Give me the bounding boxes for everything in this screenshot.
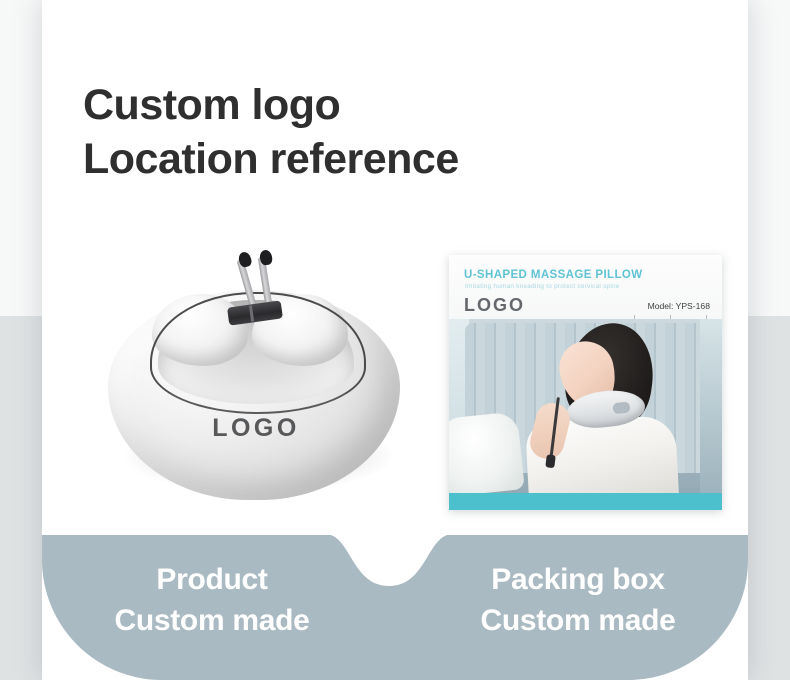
packing-box-image: U-SHAPED MASSAGE PILLOW Imitating human … [449,255,722,510]
caption-packing-box: Packing box Custom made [408,559,748,641]
photo-bed-pillow [449,411,525,493]
lifestyle-photo [449,319,722,493]
photo-wall-right [700,319,722,493]
packing-box-subtitle: Imitating human kneading to protect cerv… [465,283,620,290]
caption-product: Product Custom made [42,559,382,641]
caption-band: Product Custom made Packing box Custom m… [42,535,748,680]
packing-box-logo-text: LOGO [464,295,525,316]
promo-page: Custom logo Location reference LOGO U-SH… [0,0,790,680]
packing-box-accent-stripe [449,493,722,510]
product-image: LOGO [100,252,412,512]
page-title: Custom logo Location reference [83,78,459,186]
content-card: Custom logo Location reference LOGO U-SH… [42,0,748,680]
page-title-line-1: Custom logo [83,78,459,132]
packing-box-title: U-SHAPED MASSAGE PILLOW [464,269,643,281]
packing-box-model-text: Model: YPS-168 [648,301,710,311]
pillow-prong-tip-right [259,249,273,266]
caption-packing-box-title: Packing box [408,559,748,600]
caption-product-subtitle: Custom made [42,600,382,641]
caption-packing-box-subtitle: Custom made [408,600,748,641]
product-logo-text: LOGO [100,414,412,443]
page-title-line-2: Location reference [83,132,459,186]
caption-product-title: Product [42,559,382,600]
